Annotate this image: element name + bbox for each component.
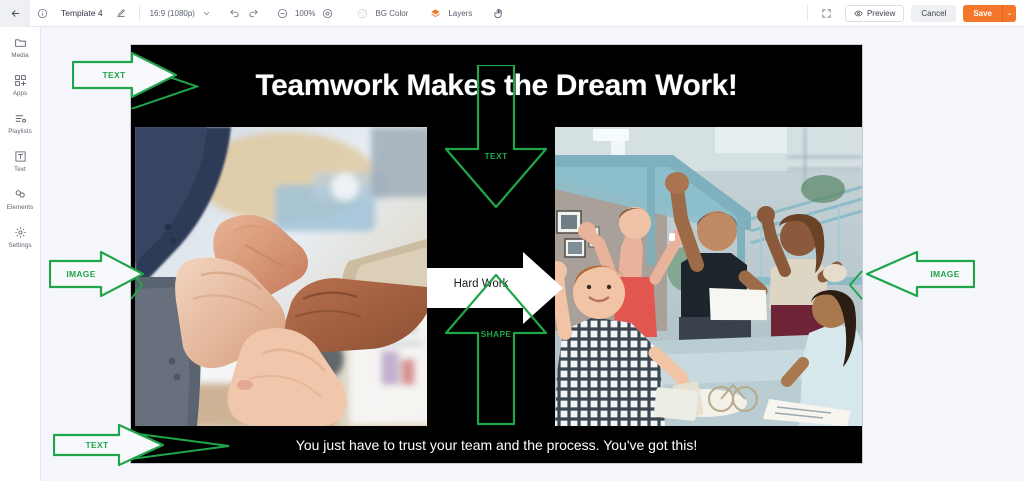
sidebar-label-media: Media [11,52,28,59]
annotation-label-headline-text: TEXT [92,70,136,80]
sidebar-label-apps: Apps [13,90,28,97]
annotation-left-image[interactable]: IMAGE [49,251,145,302]
annotation-headline-text[interactable]: TEXT [72,52,178,103]
toolbar-divider-2 [807,5,808,21]
info-circle-icon [37,8,48,19]
top-toolbar: Template 4 16:9 (1080p) [0,0,1024,27]
design-canvas[interactable]: Teamwork Makes the Dream Work! [131,45,862,463]
fullscreen-button[interactable] [814,0,839,27]
sidebar-item-text[interactable]: Text [0,149,41,173]
annotation-arrow-down-icon [442,65,550,209]
annotation-middle-shape[interactable]: SHAPE [442,271,550,431]
annotation-right-image[interactable]: IMAGE [865,251,975,302]
zoom-fit-button[interactable] [318,0,337,27]
zoom-level[interactable]: 100% [292,9,318,18]
redo-icon [248,8,259,19]
caption-label: You just have to trust your team and the… [296,437,697,453]
left-sidebar: Media Apps Playlists [0,27,41,481]
canvas-stage[interactable]: Teamwork Makes the Dream Work! [41,27,1024,481]
toolbar-divider-1 [139,5,140,21]
photo-hands-teamwork [135,127,427,426]
sidebar-label-settings: Settings [8,242,31,249]
preview-label: Preview [867,9,895,18]
save-button-group: Save ⌄ [963,5,1016,22]
bg-color-label: BG Color [375,9,408,18]
save-button[interactable]: Save [963,5,1002,22]
sidebar-label-elements: Elements [7,204,34,211]
layers-button[interactable]: Layers [426,8,476,19]
hand-tool-icon [493,8,504,19]
sidebar-item-playlists[interactable]: Playlists [0,111,41,135]
apps-grid-icon [14,73,27,88]
annotation-arrow-up-icon [442,271,550,426]
annotation-label-right-image: IMAGE [919,269,971,279]
sidebar-label-playlists: Playlists [8,128,32,135]
preview-button[interactable]: Preview [845,5,904,22]
caption-text-element[interactable]: You just have to trust your team and the… [131,426,862,463]
layers-label: Layers [448,9,472,18]
fullscreen-icon [821,8,832,19]
annotation-caption-text[interactable]: TEXT [53,424,165,471]
left-image-element[interactable] [135,127,427,426]
layers-icon [430,8,441,19]
arrow-left-icon [10,8,21,19]
info-button[interactable] [30,0,55,27]
undo-button[interactable] [225,0,244,27]
elements-icon [14,187,27,202]
gear-icon [14,225,27,240]
sidebar-item-elements[interactable]: Elements [0,187,41,211]
annotation-right-image-head [849,265,863,310]
annotation-label-middle-shape: SHAPE [472,329,520,339]
annotation-middle-text[interactable]: TEXT [442,65,550,214]
text-box-icon [14,149,27,164]
zoom-fit-icon [322,8,333,19]
bg-color-button[interactable]: BG Color [353,8,412,19]
zoom-out-button[interactable] [273,0,292,27]
save-dropdown-caret[interactable]: ⌄ [1002,5,1016,22]
rename-project-button[interactable] [109,0,133,27]
eye-icon [854,9,863,18]
folder-icon [14,35,27,50]
annotation-arrow-left-icon [849,265,863,305]
redo-button[interactable] [244,0,263,27]
app-root: Template 4 16:9 (1080p) [0,0,1024,481]
undo-icon [229,8,240,19]
hand-tool-button[interactable] [486,0,511,27]
chevron-down-icon [202,9,211,18]
aspect-ratio-select[interactable]: 16:9 (1080p) [146,9,215,18]
sidebar-label-text: Text [14,166,26,173]
back-button[interactable] [0,0,30,27]
photo-team-celebrating [555,127,862,426]
annotation-label-middle-text: TEXT [472,151,520,161]
project-name[interactable]: Template 4 [55,8,109,18]
color-wheel-icon [357,8,368,19]
annotation-label-left-image: IMAGE [57,269,105,279]
playlist-icon [14,111,27,126]
cancel-button[interactable]: Cancel [911,5,956,22]
sidebar-item-media[interactable]: Media [0,35,41,59]
sidebar-item-settings[interactable]: Settings [0,225,41,249]
zoom-out-icon [277,8,288,19]
sidebar-item-apps[interactable]: Apps [0,73,41,97]
aspect-ratio-value: 16:9 (1080p) [150,9,195,18]
annotation-label-caption-text: TEXT [75,440,119,450]
edit-pencil-icon [116,8,126,18]
right-image-element[interactable] [555,127,862,426]
